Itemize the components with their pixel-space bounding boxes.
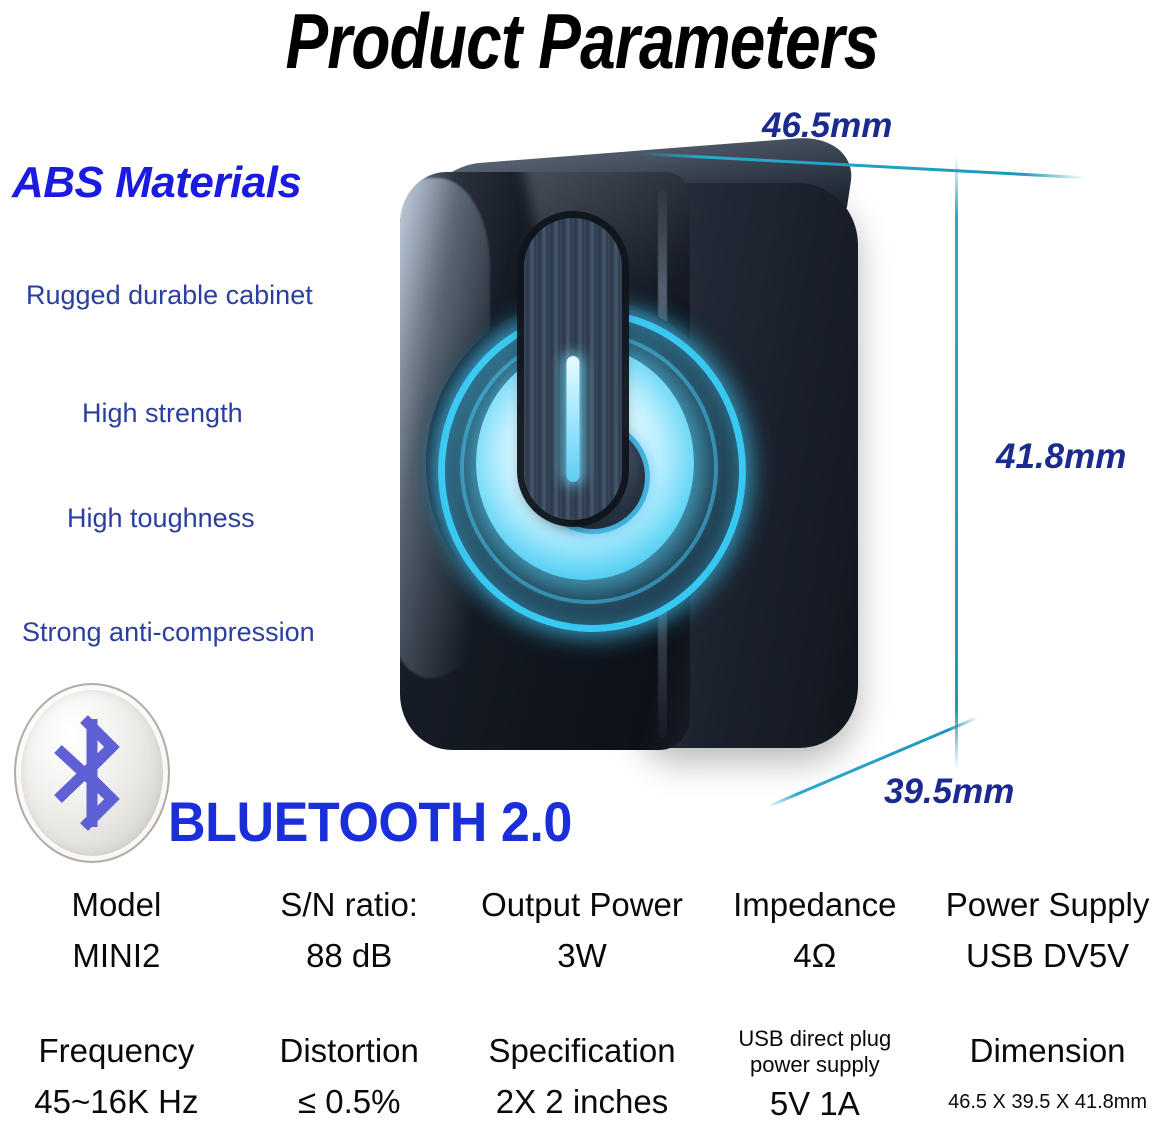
spec-cell-specification: Specification 2X 2 inches xyxy=(466,1026,699,1130)
spec-value: 5V 1A xyxy=(698,1078,931,1130)
spec-label: Output Power xyxy=(466,880,699,930)
spec-value: 46.5 X 39.5 X 41.8mm xyxy=(931,1076,1164,1128)
spec-row: Frequency 45~16K Hz Distortion ≤ 0.5% Sp… xyxy=(0,1026,1164,1130)
spec-label: Dimension xyxy=(931,1026,1164,1076)
spec-value: 88 dB xyxy=(233,930,466,982)
dimension-label-depth: 39.5mm xyxy=(884,772,1014,812)
spec-label: Distortion xyxy=(233,1026,466,1076)
spec-cell-dimension: Dimension 46.5 X 39.5 X 41.8mm xyxy=(931,1026,1164,1130)
spec-label: Model xyxy=(0,880,233,930)
spec-value: USB DV5V xyxy=(931,930,1164,982)
specifications-table: Model MINI2 S/N ratio: 88 dB Output Powe… xyxy=(0,880,1164,1130)
spec-label: Specification xyxy=(466,1026,699,1076)
spec-cell-output-power: Output Power 3W xyxy=(466,880,699,982)
spec-cell-frequency: Frequency 45~16K Hz xyxy=(0,1026,233,1130)
spec-cell-model: Model MINI2 xyxy=(0,880,233,982)
bluetooth-icon xyxy=(50,715,134,831)
spec-label: Frequency xyxy=(0,1026,233,1076)
feature-item-strong-anti-compression: Strong anti-compression xyxy=(22,617,315,648)
spec-label: S/N ratio: xyxy=(233,880,466,930)
spec-value: 4Ω xyxy=(698,930,931,982)
spec-value: 3W xyxy=(466,930,699,982)
product-image xyxy=(372,120,1012,810)
feature-item-rugged-durable-cabinet: Rugged durable cabinet xyxy=(26,280,313,311)
spec-label-line2: power supply xyxy=(698,1052,931,1078)
spec-value: MINI2 xyxy=(0,930,233,982)
spec-label: Power Supply xyxy=(931,880,1164,930)
spec-value: 45~16K Hz xyxy=(0,1076,233,1128)
spec-label: Impedance xyxy=(698,880,931,930)
product-parameters-infographic: Product Parameters ABS Materials Rugged … xyxy=(0,0,1164,1141)
page-title: Product Parameters xyxy=(105,0,1059,87)
dimension-label-height: 41.8mm xyxy=(996,437,1126,477)
spec-row: Model MINI2 S/N ratio: 88 dB Output Powe… xyxy=(0,880,1164,982)
knob-led-slot xyxy=(567,356,580,482)
spec-value: 2X 2 inches xyxy=(466,1076,699,1128)
dimension-label-width: 46.5mm xyxy=(762,106,892,146)
speaker-volume-knob xyxy=(524,218,622,520)
bluetooth-badge xyxy=(14,683,170,863)
spec-cell-sn-ratio: S/N ratio: 88 dB xyxy=(233,880,466,982)
dimension-line-height xyxy=(955,155,958,770)
abs-materials-heading: ABS Materials xyxy=(12,158,301,208)
spec-cell-distortion: Distortion ≤ 0.5% xyxy=(233,1026,466,1130)
spec-cell-power-supply: Power Supply USB DV5V xyxy=(931,880,1164,982)
feature-item-high-strength: High strength xyxy=(82,398,243,429)
spec-value: ≤ 0.5% xyxy=(233,1076,466,1128)
spec-label: USB direct plug xyxy=(698,1026,931,1052)
feature-item-high-toughness: High toughness xyxy=(67,503,255,534)
spec-cell-impedance: Impedance 4Ω xyxy=(698,880,931,982)
spec-cell-usb-direct-plug: USB direct plug power supply 5V 1A xyxy=(698,1026,931,1130)
